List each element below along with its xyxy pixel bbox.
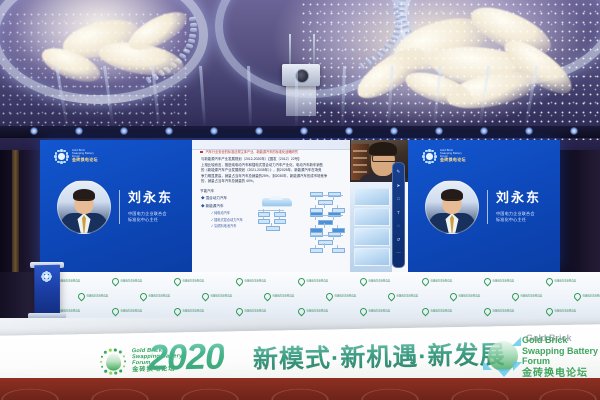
crystal-sparkle-field-left [0,10,190,128]
sponsor-logo: 中国电力企业联合会 CHINA ELECTRICITY COUNCIL [112,278,142,285]
eraser-icon[interactable]: ◌ [395,223,401,229]
slide-list-label: 插电式混合动力汽车 [214,218,243,222]
speaker-title-left-2: 标准化中心主任 [128,217,173,223]
slide-list-label: 混合动力汽车 [206,196,228,200]
sponsor-mark-icon [297,277,307,287]
watermark-text: Gold Brick Swapping Battery Forum 金砖换电论坛 [522,335,598,380]
sponsor-logo: 中国电力企业联合会 CHINA ELECTRICITY COUNCIL [264,293,294,300]
forum-logo-right: Gold Brick Swapping Battery Forum 金砖换电论坛 [422,149,466,164]
sponsor-mark-icon [511,292,521,302]
speaker-divider [119,190,120,224]
sponsor-logo-sub: CHINA ELECTRICITY COUNCIL [121,282,143,284]
sponsor-logo-sub: CHINA ELECTRICITY COUNCIL [245,282,267,284]
forum-logo-cn: 金砖换电论坛 [72,158,98,162]
sponsor-logo-sub: CHINA ELECTRICITY COUNCIL [307,312,329,314]
sponsor-logo: 中国电力企业联合会 CHINA ELECTRICITY COUNCIL [422,278,452,285]
sponsor-logo: 中国电力企业联合会 CHINA ELECTRICITY COUNCIL [484,278,514,285]
sponsor-logo: 中国电力企业联合会 CHINA ELECTRICITY COUNCIL [326,293,356,300]
slide-list-label: 节能汽车 [200,189,214,193]
banner-year: 2020 [148,335,225,378]
sponsor-mark-icon [173,277,183,287]
sponsor-logo-sub: CHINA ELECTRICITY COUNCIL [493,312,515,314]
sponsor-logo: 中国电力企业联合会 CHINA ELECTRICITY COUNCIL [450,293,480,300]
speaker-title-right-1: 中国电力企业联合会 [496,211,541,217]
sponsor-mark-icon [139,292,149,302]
shape-icon[interactable]: □ [395,196,401,202]
sponsor-mark-icon [235,277,245,287]
sponsor-logo: 中国电力企业联合会 CHINA ELECTRICITY COUNCIL [78,293,108,300]
slide-list-label: 纯电动汽车 [214,211,230,215]
sponsor-logo-sub: CHINA ELECTRICITY COUNCIL [183,312,205,314]
video-speaker-hair [369,142,397,156]
ceiling-projector-icon [282,64,320,86]
gold-pillar [12,150,19,275]
podium-logo [41,271,54,279]
speaker-title-left-1: 中国电力企业联合会 [128,211,173,217]
more-icon[interactable]: ⋯ [395,250,401,256]
speaker-name-right: 刘永东 [496,191,541,205]
diagram-node [258,219,270,224]
pencil-icon[interactable]: ✎ [395,169,401,175]
sponsor-logo: 中国电力企业联合会 CHINA ELECTRICITY COUNCIL [298,278,328,285]
speaker-name-left: 刘永东 [128,191,173,205]
sponsor-backdrop-wall: 中国电力企业联合会 CHINA ELECTRICITY COUNCIL 中国电力… [0,272,600,324]
undo-icon[interactable]: ↺ [395,237,401,243]
speaker-identity-right: 刘永东 中国电力企业联合会 标准化中心主任 [425,180,541,234]
watermark-arrow-right [513,362,522,371]
sponsor-logo-sub: CHINA ELECTRICITY COUNCIL [183,282,205,284]
sponsor-logo-sub: CHINA ELECTRICITY COUNCIL [369,282,391,284]
diagram-node [318,240,333,245]
sponsor-logo-sub: CHINA ELECTRICITY COUNCIL [555,312,577,314]
forum-dot-ring-icon [422,149,437,164]
slide-list-item: 节能汽车 [200,188,243,195]
sponsor-mark-icon [325,292,335,302]
sponsor-logo-sub: CHINA ELECTRICITY COUNCIL [493,282,515,284]
forum-watermark: Gold Brick Gold Brick Swapping Battery F… [482,331,600,385]
sponsor-logo: 中国电力企业联合会 CHINA ELECTRICITY COUNCIL [236,278,266,285]
sponsor-logo: 中国电力企业联合会 CHINA ELECTRICITY COUNCIL [112,308,142,315]
sponsor-mark-icon [387,292,397,302]
sponsor-logo: 中国电力企业联合会 CHINA ELECTRICITY COUNCIL [236,308,266,315]
sponsor-mark-icon [77,292,87,302]
sponsor-mark-icon [111,277,121,287]
sponsor-logo-sub: CHINA ELECTRICITY COUNCIL [369,312,391,314]
watermark-en1: Gold Brick [522,335,598,346]
sponsor-logo-sub: CHINA ELECTRICITY COUNCIL [555,282,577,284]
forum-logo-core-icon [58,153,65,160]
diagram-node [310,248,323,253]
sponsor-logo: 中国电力企业联合会 CHINA ELECTRICITY COUNCIL [298,308,328,315]
sponsor-logo-sub: CHINA ELECTRICITY COUNCIL [245,312,267,314]
led-video-wall: Gold Brick Swapping Battery Forum 金砖换电论坛 [40,140,560,272]
conference-stage-photo: Gold Brick Swapping Battery Forum 金砖换电论坛 [0,0,600,400]
sponsor-mark-icon [173,307,183,317]
sponsor-logo: 中国电力企业联合会 CHINA ELECTRICITY COUNCIL [202,293,232,300]
left-wall-shadow [0,150,40,275]
speaker-text-right: 刘永东 中国电力企业联合会 标准化中心主任 [496,191,541,222]
projector-arm-left [289,34,291,66]
watermark-arrow-left [483,361,492,370]
sponsor-logo: 中国电力企业联合会 CHINA ELECTRICITY COUNCIL [140,293,170,300]
sponsor-mark-icon [449,292,459,302]
watermark-en3: Forum [522,356,598,367]
sponsor-logo: 中国电力企业联合会 CHINA ELECTRICITY COUNCIL [388,293,418,300]
speaker-text-left: 刘永东 中国电力企业联合会 标准化中心主任 [128,191,173,222]
left-speaker-panel: Gold Brick Swapping Battery Forum 金砖换电论坛 [40,140,192,272]
speaker-identity-left: 刘永东 中国电力企业联合会 标准化中心主任 [57,180,173,234]
forum-logo-text-right: Gold Brick Swapping Battery Forum 金砖换电论坛 [440,150,466,162]
sponsor-mark-icon [545,307,555,317]
sponsor-mark-icon [359,307,369,317]
sponsor-logo-sub: CHINA ELECTRICITY COUNCIL [59,282,81,284]
sponsor-logo-sub: CHINA ELECTRICITY COUNCIL [335,297,357,299]
video-speaker-glasses-icon [372,155,396,162]
forum-logo-text-left: Gold Brick Swapping Battery Forum 金砖换电论坛 [72,150,98,162]
slide-list-label: 氢燃料电池汽车 [214,224,236,228]
sponsor-logo: 中国电力企业联合会 CHINA ELECTRICITY COUNCIL [546,308,576,315]
sponsor-logo-sub: CHINA ELECTRICITY COUNCIL [521,297,543,299]
sponsor-logo-sub: CHINA ELECTRICITY COUNCIL [459,297,481,299]
droplet-shape-icon [106,353,121,370]
annotation-toolbar[interactable]: ✎➤□T◌↺⋯ [392,162,405,268]
sponsor-mark-icon [421,307,431,317]
bullet-square-icon [200,151,203,154]
diagram-car [262,198,292,207]
sponsor-logo-sub: CHINA ELECTRICITY COUNCIL [431,312,453,314]
sponsor-logo-sub: CHINA ELECTRICITY COUNCIL [431,282,453,284]
projector-arm-right [313,34,315,66]
diagram-node [274,212,286,217]
sponsor-mark-icon [421,277,431,287]
speaker-title-right-2: 标准化中心主任 [496,217,541,223]
diagram-node [258,212,270,217]
sponsor-logo-sub: CHINA ELECTRICITY COUNCIL [121,312,143,314]
sponsor-logo: 中国电力企业联合会 CHINA ELECTRICITY COUNCIL [360,278,390,285]
forum-logo-left: Gold Brick Swapping Battery Forum 金砖换电论坛 [54,149,98,164]
sponsor-logo: 中国电力企业联合会 CHINA ELECTRICITY COUNCIL [360,308,390,315]
sponsor-logo-sub: CHINA ELECTRICITY COUNCIL [273,297,295,299]
diagram-node [318,220,333,225]
diagram-node [318,200,333,205]
sponsor-mark-icon [263,292,273,302]
projector-mount-plate [286,86,316,116]
sponsor-logo-sub: CHINA ELECTRICITY COUNCIL [397,297,419,299]
diagram-node [274,219,286,224]
slide-list-item: ✓ 氢燃料电池汽车 [200,223,243,230]
sponsor-mark-icon [483,277,493,287]
sponsor-logo-sub: CHINA ELECTRICITY COUNCIL [149,297,171,299]
forum-logo-core-icon [44,274,49,279]
sponsor-logo-sub: CHINA ELECTRICITY COUNCIL [211,297,233,299]
right-speaker-panel: Gold Brick Swapping Battery Forum 金砖换电论坛 [408,140,560,272]
sponsor-logo-sub: CHINA ELECTRICITY COUNCIL [583,297,600,299]
sponsor-logo: 中国电力企业联合会 CHINA ELECTRICITY COUNCIL [484,308,514,315]
watermark-arrow-down [497,369,511,377]
truss-light-bar [0,126,600,138]
forum-dot-ring-icon [54,149,69,164]
watermark-arrow-up [512,337,521,346]
sponsor-mark-icon [297,307,307,317]
sponsor-logo: 中国电力企业联合会 CHINA ELECTRICITY COUNCIL [422,308,452,315]
speaker-avatar-left [57,180,111,234]
carpet-pattern [0,378,600,400]
forum-logo-cn: 金砖换电论坛 [440,158,466,162]
sponsor-logo: 中国电力企业联合会 CHINA ELECTRICITY COUNCIL [174,308,204,315]
text-icon[interactable]: T [395,210,401,216]
right-wall-shadow [560,150,600,275]
sponsor-mark-icon [201,292,211,302]
sponsor-logo-sub: CHINA ELECTRICITY COUNCIL [307,282,329,284]
sponsor-mark-icon [235,307,245,317]
sponsor-logo: 中国电力企业联合会 CHINA ELECTRICITY COUNCIL [512,293,542,300]
sponsor-logo: 中国电力企业联合会 CHINA ELECTRICITY COUNCIL [174,278,204,285]
sponsor-logo-sub: CHINA ELECTRICITY COUNCIL [87,297,109,299]
avatar-glasses-icon [443,199,462,205]
speaker-podium [34,265,60,318]
diagram-node [266,226,280,231]
pointer-icon[interactable]: ➤ [395,183,401,189]
slide-list-item: ◆ 新能源汽车 [200,203,243,210]
avatar-glasses-icon [75,199,94,205]
sponsor-logo: 中国电力企业联合会 CHINA ELECTRICITY COUNCIL [574,293,600,300]
watermark-en2: Swapping Battery [522,346,598,357]
slide-bullet-list: 节能汽车◆ 混合动力汽车◆ 新能源汽车✓ 纯电动汽车✓ 插电式混合动力汽车✓ 氢… [200,188,243,230]
slide-list-label: 新能源汽车 [206,204,224,208]
forum-dot-ring-icon [41,271,52,282]
watermark-logo-icon [482,335,524,377]
slide-list-item: ◆ 混合动力汽车 [200,195,243,202]
sponsor-mark-icon [545,277,555,287]
diagram-node [332,248,345,253]
sponsor-mark-icon [483,307,493,317]
speaker-divider [487,190,488,224]
sponsor-mark-icon [573,292,583,302]
slide-side-strip [350,182,392,272]
forum-droplet-logo-icon [98,346,129,377]
slide-heading-text: 汽车行业安全的标准法规主体产业、新能源汽车的标准化战略研究 [206,150,298,154]
sponsor-logo: 中国电力企业联合会 CHINA ELECTRICITY COUNCIL [546,278,576,285]
sponsor-mark-icon [359,277,369,287]
sponsor-mark-icon [111,307,121,317]
speaker-avatar-right [425,180,479,234]
forum-logo-core-icon [426,153,433,160]
banner-slogan: 新模式·新机遇·新发展 [253,335,506,376]
